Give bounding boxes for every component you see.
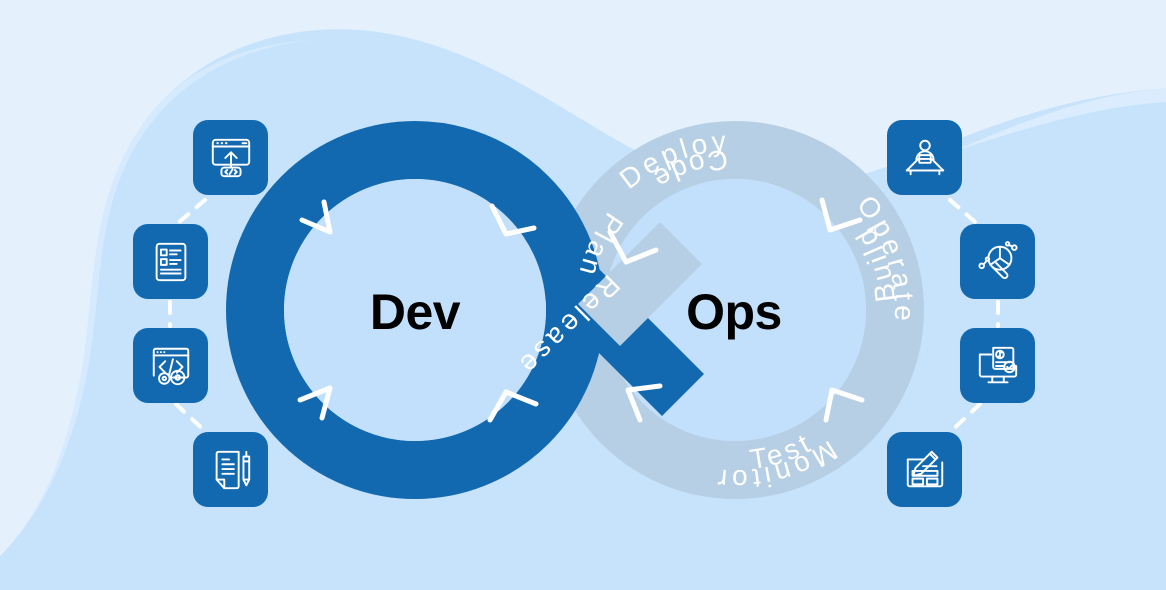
- monitor-invoice-check-icon[interactable]: [960, 328, 1035, 403]
- connector-right-3: [948, 404, 980, 434]
- checklist-document-glyph: [148, 239, 194, 285]
- code-window-gears-glyph: [148, 343, 194, 389]
- form-pencil-glyph: [902, 447, 948, 493]
- connector-left-3: [176, 404, 208, 434]
- checklist-document-icon[interactable]: [133, 224, 208, 299]
- person-laptop-desk-icon[interactable]: [887, 120, 962, 195]
- document-pencil-glyph: [208, 447, 254, 493]
- browser-upload-code-icon[interactable]: [193, 120, 268, 195]
- devops-diagram-canvas: Code Plan Build Test Deploy Operate Moni…: [0, 0, 1166, 590]
- ops-centre-label: Ops: [686, 283, 782, 341]
- magnifier-piechart-glyph: [975, 239, 1021, 285]
- browser-upload-code-glyph: [208, 135, 254, 181]
- monitor-invoice-check-glyph: [975, 343, 1021, 389]
- code-window-gears-icon[interactable]: [133, 328, 208, 403]
- dev-centre-label: Dev: [370, 283, 460, 341]
- document-pencil-icon[interactable]: [193, 432, 268, 507]
- magnifier-piechart-icon[interactable]: [960, 224, 1035, 299]
- form-pencil-icon[interactable]: [887, 432, 962, 507]
- person-laptop-desk-glyph: [902, 135, 948, 181]
